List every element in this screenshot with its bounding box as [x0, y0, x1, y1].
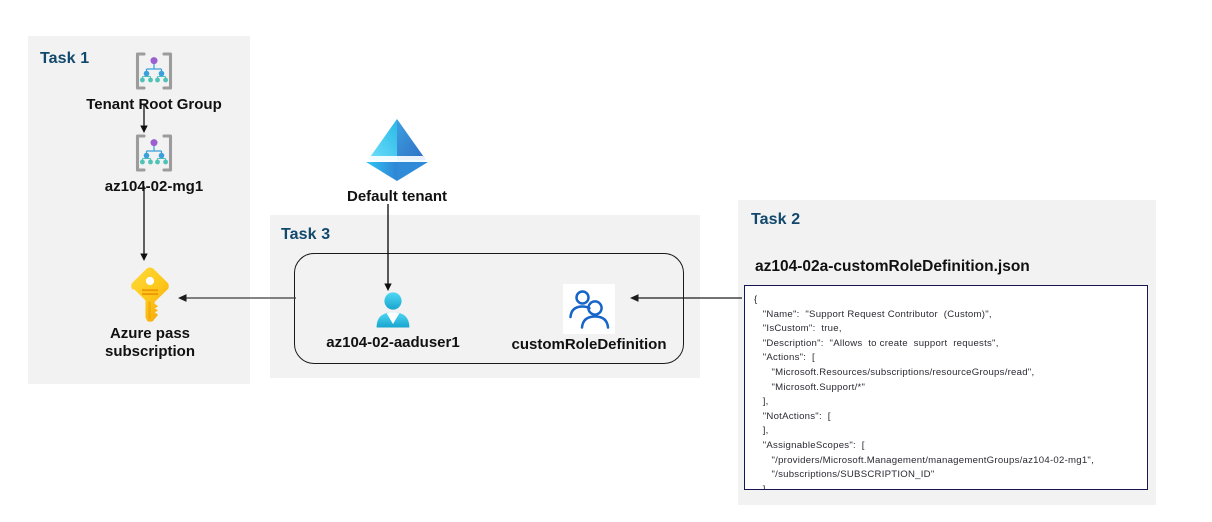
json-line: "Description": "Allows to create support…: [754, 337, 1138, 352]
json-line: "AssignableScopes": [: [754, 439, 1138, 454]
connector-mg1-to-subscription: [138, 186, 150, 267]
json-code-card: { "Name": "Support Request Contributor (…: [744, 285, 1148, 490]
json-line: "IsCustom": true,: [754, 322, 1138, 337]
azure-active-directory-icon: [358, 114, 436, 186]
node-az104-02-mg1[interactable]: az104-02-mg1: [90, 130, 218, 196]
json-line: ]: [754, 483, 1138, 490]
json-line: "Microsoft.Resources/subscriptions/resou…: [754, 366, 1138, 381]
diagram-canvas: Task 1: [0, 0, 1212, 522]
json-file-name: az104-02a-customRoleDefinition.json: [755, 258, 1030, 276]
node-caption: customRoleDefinition: [511, 336, 666, 354]
json-line: ],: [754, 424, 1138, 439]
json-line: "Actions": [: [754, 351, 1138, 366]
task3-label: Task 3: [281, 226, 330, 244]
node-tenant-root-group[interactable]: Tenant Root Group: [72, 48, 236, 114]
node-caption: Default tenant: [347, 188, 447, 206]
management-group-icon: [131, 48, 177, 94]
json-line: "/subscriptions/SUBSCRIPTION_ID": [754, 468, 1138, 483]
key-icon: [127, 265, 173, 323]
node-azure-pass-subscription[interactable]: Azure pass subscription: [78, 265, 222, 362]
connector-task3-to-subscription: [178, 291, 296, 309]
json-line: {: [754, 293, 1138, 308]
node-caption: Tenant Root Group: [86, 96, 222, 114]
connector-json-to-customroledefinition: [630, 291, 742, 309]
node-caption: az104-02-aaduser1: [326, 334, 459, 352]
json-line: "Microsoft.Support/*": [754, 381, 1138, 396]
role-definition-icon: [563, 284, 615, 334]
json-line: "Name": "Support Request Contributor (Cu…: [754, 308, 1138, 323]
management-group-icon: [131, 130, 177, 176]
node-caption: Azure pass subscription: [105, 325, 195, 362]
node-caption: az104-02-mg1: [105, 178, 203, 196]
user-icon: [371, 288, 415, 332]
node-az104-02-aaduser1[interactable]: az104-02-aaduser1: [313, 288, 473, 352]
json-line: "/providers/Microsoft.Management/managem…: [754, 454, 1138, 469]
json-line: ],: [754, 395, 1138, 410]
json-line: "NotActions": [: [754, 410, 1138, 425]
node-default-tenant[interactable]: Default tenant: [332, 114, 462, 206]
task2-label: Task 2: [751, 211, 800, 229]
connector-default-tenant-to-aaduser: [382, 204, 394, 297]
